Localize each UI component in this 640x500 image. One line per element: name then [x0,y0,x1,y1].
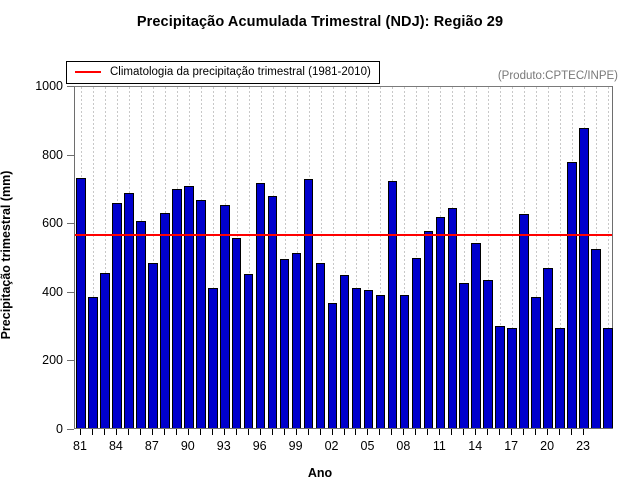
x-tick-mark [511,429,512,435]
x-tick-mark [535,429,536,435]
climatology-reference-line [75,87,612,428]
x-tick-label: 84 [109,439,123,453]
y-tick-label: 1000 [15,79,63,93]
x-tick-label: 17 [504,439,518,453]
x-tick-mark [260,429,261,435]
x-tick-mark [427,429,428,435]
x-tick-mark [355,429,356,435]
x-tick-mark [80,429,81,435]
x-axis-title: Ano [0,466,640,480]
x-tick-mark [451,429,452,435]
x-tick-label: 02 [325,439,339,453]
y-tick-mark [67,155,74,156]
y-tick-label: 400 [15,285,63,299]
x-tick-mark [475,429,476,435]
x-tick-label: 14 [468,439,482,453]
legend-line-swatch [75,71,101,73]
x-tick-mark [128,429,129,435]
x-tick-label: 99 [289,439,303,453]
x-tick-mark [176,429,177,435]
y-tick-label: 200 [15,353,63,367]
y-tick-label: 0 [15,422,63,436]
x-tick-mark [284,429,285,435]
x-tick-mark [523,429,524,435]
x-tick-mark [140,429,141,435]
x-tick-label: 93 [217,439,231,453]
x-tick-mark [403,429,404,435]
x-tick-label: 81 [73,439,87,453]
plot-area [74,86,613,429]
x-tick-mark [487,429,488,435]
x-tick-label: 96 [253,439,267,453]
source-note: (Produto:CPTEC/INPE) [498,70,618,82]
x-tick-label: 90 [181,439,195,453]
x-tick-mark [463,429,464,435]
x-tick-mark [116,429,117,435]
y-tick-label: 600 [15,216,63,230]
x-tick-label: 23 [576,439,590,453]
x-tick-mark [212,429,213,435]
x-tick-mark [367,429,368,435]
x-tick-mark [320,429,321,435]
y-tick-mark [67,86,74,87]
legend-label: Climatologia da precipitação trimestral … [110,66,371,78]
x-tick-mark [236,429,237,435]
climatology-line [75,234,612,236]
x-tick-mark [308,429,309,435]
x-tick-mark [296,429,297,435]
x-tick-mark [583,429,584,435]
x-tick-mark [547,429,548,435]
y-tick-mark [67,360,74,361]
legend: Climatologia da precipitação trimestral … [66,61,380,84]
chart-title: Precipitação Acumulada Trimestral (NDJ):… [0,14,640,30]
x-tick-mark [104,429,105,435]
x-tick-label: 11 [433,439,446,453]
x-tick-mark [439,429,440,435]
x-tick-mark [200,429,201,435]
x-tick-mark [152,429,153,435]
x-tick-mark [344,429,345,435]
x-tick-mark [332,429,333,435]
y-tick-mark [67,292,74,293]
y-tick-mark [67,429,74,430]
x-tick-mark [571,429,572,435]
x-tick-mark [248,429,249,435]
y-axis-title: Precipitação trimestral (mm) [0,171,13,340]
x-tick-label: 87 [145,439,159,453]
x-tick-label: 20 [540,439,554,453]
x-tick-label: 08 [396,439,410,453]
x-tick-mark [391,429,392,435]
x-tick-mark [272,429,273,435]
x-tick-mark [415,429,416,435]
chart-root: Precipitação Acumulada Trimestral (NDJ):… [0,0,640,500]
y-tick-mark [67,223,74,224]
x-tick-label: 05 [361,439,375,453]
x-tick-mark [499,429,500,435]
x-tick-mark [224,429,225,435]
x-tick-mark [379,429,380,435]
x-tick-mark [164,429,165,435]
x-tick-mark [559,429,560,435]
y-tick-label: 800 [15,148,63,162]
x-tick-mark [92,429,93,435]
x-tick-mark [188,429,189,435]
